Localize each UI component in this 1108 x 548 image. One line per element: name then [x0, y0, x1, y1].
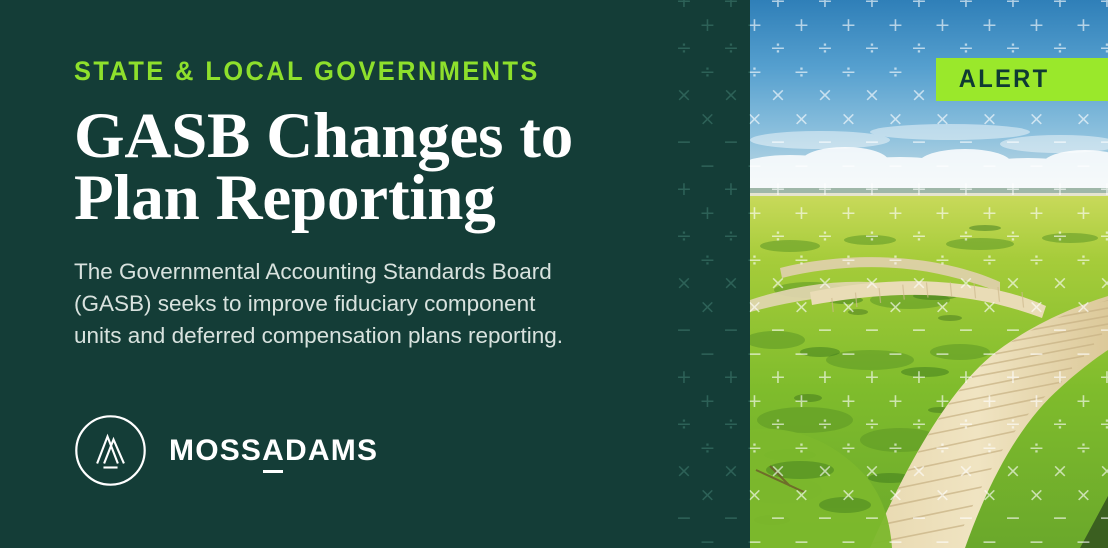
eyebrow-category: STATE & LOCAL GOVERNMENTS: [74, 58, 638, 85]
wordmark-part-1: MOSS: [169, 434, 262, 467]
alert-badge: ALERT: [936, 58, 1108, 101]
copy-block: STATE & LOCAL GOVERNMENTS GASB Changes t…: [74, 58, 674, 352]
moss-adams-mountain-mark-icon: [74, 414, 147, 487]
moss-adams-wordmark: MOSSADAMS: [169, 436, 378, 466]
deck-description: The Governmental Accounting Standards Bo…: [74, 256, 654, 352]
headline-line-1: GASB Changes to: [74, 105, 634, 167]
deck-line-3: units and deferred compensation plans re…: [74, 320, 654, 352]
deck-line-1: The Governmental Accounting Standards Bo…: [74, 256, 654, 288]
moss-adams-logo[interactable]: MOSSADAMS: [74, 414, 378, 487]
wordmark-part-2: DAMS: [285, 434, 378, 467]
left-content-panel: STATE & LOCAL GOVERNMENTS GASB Changes t…: [0, 0, 750, 548]
wordmark-letter-a: A: [262, 434, 285, 467]
deck-line-2: (GASB) seeks to improve fiduciary compon…: [74, 288, 654, 320]
headline-line-2: Plan Reporting: [74, 167, 634, 229]
page-title: GASB Changes to Plan Reporting: [74, 105, 634, 230]
alert-badge-label: ALERT: [936, 65, 1049, 94]
alert-banner: STATE & LOCAL GOVERNMENTS GASB Changes t…: [0, 0, 1108, 548]
